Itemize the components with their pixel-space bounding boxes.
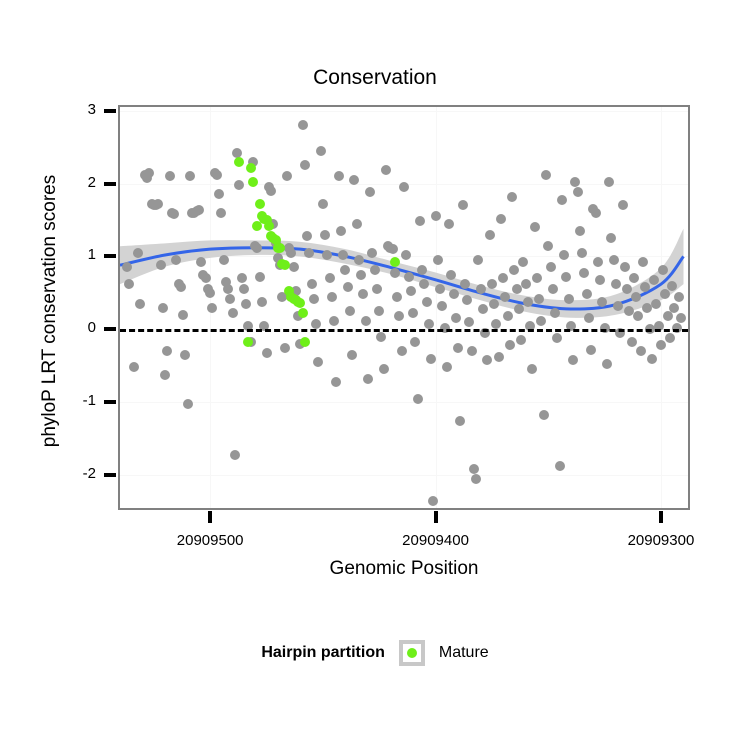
data-point-other (255, 272, 265, 282)
data-point-other (309, 294, 319, 304)
y-tick-mark (104, 254, 116, 258)
data-point-other (356, 270, 366, 280)
data-point-other (568, 355, 578, 365)
data-point-other (347, 350, 357, 360)
data-point-other (165, 171, 175, 181)
data-point-other (390, 268, 400, 278)
data-point-other (496, 214, 506, 224)
data-point-other (665, 333, 675, 343)
legend: Hairpin partition Mature (0, 640, 750, 666)
data-point-other (329, 316, 339, 326)
data-point-other (460, 279, 470, 289)
data-point-other (133, 248, 143, 258)
data-point-other (674, 292, 684, 302)
data-point-other (453, 343, 463, 353)
x-tick-mark (434, 511, 438, 523)
data-point-mature (246, 163, 256, 173)
data-point-mature (275, 243, 285, 253)
data-point-other (336, 226, 346, 236)
data-point-other (426, 354, 436, 364)
data-point-mature (255, 199, 265, 209)
data-point-other (595, 275, 605, 285)
data-point-other (428, 496, 438, 506)
data-point-other (647, 354, 657, 364)
data-point-other (478, 304, 488, 314)
data-point-other (397, 346, 407, 356)
data-point-other (352, 219, 362, 229)
data-point-other (262, 348, 272, 358)
data-point-other (658, 265, 668, 275)
plot-panel (118, 105, 690, 510)
legend-key-mature[interactable] (399, 640, 425, 666)
data-point-other (559, 250, 569, 260)
y-tick-mark (104, 400, 116, 404)
data-point-other (205, 288, 215, 298)
data-point-other (228, 308, 238, 318)
data-point-other (280, 343, 290, 353)
data-point-other (471, 474, 481, 484)
x-tick-mark (208, 511, 212, 523)
data-point-other (597, 297, 607, 307)
data-point-other (491, 319, 501, 329)
data-point-other (388, 244, 398, 254)
data-point-mature (298, 308, 308, 318)
data-point-other (573, 187, 583, 197)
data-point-other (183, 399, 193, 409)
y-tick-label: 1 (0, 246, 96, 263)
data-point-other (345, 306, 355, 316)
data-point-other (564, 294, 574, 304)
data-point-other (485, 230, 495, 240)
data-point-other (543, 241, 553, 251)
data-point-other (158, 303, 168, 313)
data-point-other (507, 192, 517, 202)
data-point-other (178, 310, 188, 320)
data-point-other (534, 294, 544, 304)
data-point-other (325, 273, 335, 283)
data-point-other (413, 394, 423, 404)
data-point-other (289, 262, 299, 272)
data-point-other (257, 297, 267, 307)
data-point-other (404, 272, 414, 282)
data-point-other (363, 374, 373, 384)
data-point-other (577, 248, 587, 258)
data-point-other (663, 311, 673, 321)
x-tick-label: 20909500 (150, 532, 270, 549)
data-point-other (611, 279, 621, 289)
loess-trend-line (120, 107, 688, 508)
data-point-other (586, 345, 596, 355)
data-point-other (512, 284, 522, 294)
y-axis-title: phyloP LRT conservation scores (39, 101, 61, 521)
data-point-other (455, 416, 465, 426)
data-point-other (509, 265, 519, 275)
data-point-mature (280, 260, 290, 270)
chart-title: Conservation (0, 66, 750, 90)
y-tick-mark (104, 109, 116, 113)
data-point-other (636, 346, 646, 356)
data-point-other (433, 255, 443, 265)
data-point-other (343, 282, 353, 292)
data-point-other (212, 170, 222, 180)
data-point-mature (264, 221, 274, 231)
legend-dot-icon (407, 648, 417, 658)
data-point-other (144, 168, 154, 178)
data-point-other (609, 255, 619, 265)
data-point-other (207, 303, 217, 313)
data-point-other (555, 461, 565, 471)
data-point-other (392, 292, 402, 302)
data-point-other (579, 268, 589, 278)
legend-title: Hairpin partition (261, 644, 385, 662)
data-point-other (361, 316, 371, 326)
data-point-other (129, 362, 139, 372)
data-point-other (557, 195, 567, 205)
data-point-other (327, 292, 337, 302)
data-point-other (422, 297, 432, 307)
y-tick-mark (104, 327, 116, 331)
data-point-other (266, 186, 276, 196)
data-point-other (548, 284, 558, 294)
data-point-other (487, 279, 497, 289)
data-point-mature (248, 177, 258, 187)
data-point-other (467, 346, 477, 356)
x-tick-mark (659, 511, 663, 523)
data-point-other (156, 260, 166, 270)
data-point-other (316, 146, 326, 156)
data-point-other (201, 273, 211, 283)
x-tick-label: 20909300 (601, 532, 721, 549)
data-point-other (494, 352, 504, 362)
data-point-other (431, 211, 441, 221)
y-tick-label: -2 (0, 465, 96, 482)
x-tick-label: 20909400 (376, 532, 496, 549)
data-point-other (649, 275, 659, 285)
y-tick-mark (104, 473, 116, 477)
y-tick-label: 0 (0, 319, 96, 336)
data-point-other (514, 304, 524, 314)
data-point-other (298, 120, 308, 130)
data-point-other (591, 208, 601, 218)
data-point-other (320, 230, 330, 240)
zero-reference-line (120, 329, 688, 332)
data-point-other (582, 289, 592, 299)
data-point-other (521, 279, 531, 289)
data-point-other (282, 171, 292, 181)
data-point-other (160, 370, 170, 380)
data-point-other (523, 297, 533, 307)
data-point-other (307, 279, 317, 289)
data-point-other (446, 270, 456, 280)
data-point-other (424, 319, 434, 329)
y-tick-label: -1 (0, 392, 96, 409)
data-point-other (444, 219, 454, 229)
data-point-other (489, 299, 499, 309)
data-point-other (340, 265, 350, 275)
data-point-other (500, 292, 510, 302)
data-point-other (318, 199, 328, 209)
legend-label-mature: Mature (439, 644, 489, 662)
data-point-other (541, 170, 551, 180)
data-point-other (449, 289, 459, 299)
data-point-other (530, 222, 540, 232)
data-point-other (417, 265, 427, 275)
y-tick-label: 2 (0, 174, 96, 191)
conservation-scatter-chart: Conservation phyloP LRT conservation sco… (0, 0, 750, 750)
y-tick-label: 3 (0, 101, 96, 118)
data-point-other (334, 171, 344, 181)
data-point-other (631, 292, 641, 302)
data-point-other (546, 262, 556, 272)
data-point-other (354, 255, 364, 265)
x-axis-title: Genomic Position (118, 558, 690, 580)
data-point-other (503, 311, 513, 321)
data-point-other (194, 205, 204, 215)
data-point-other (370, 265, 380, 275)
data-point-other (219, 255, 229, 265)
data-point-other (311, 319, 321, 329)
y-tick-mark (104, 182, 116, 186)
data-point-other (176, 282, 186, 292)
data-point-other (230, 450, 240, 460)
data-point-other (669, 303, 679, 313)
data-point-other (667, 281, 677, 291)
data-point-other (458, 200, 468, 210)
data-point-other (476, 284, 486, 294)
data-point-other (575, 226, 585, 236)
data-point-other (237, 273, 247, 283)
